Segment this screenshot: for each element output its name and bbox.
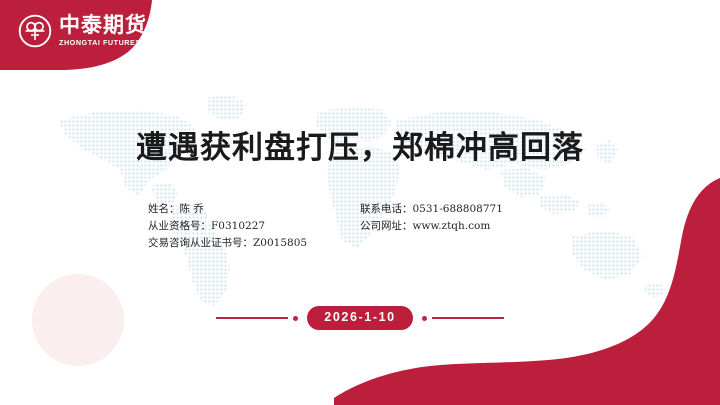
- contact-row-name: 姓名：陈 乔: [148, 201, 360, 218]
- value-website[interactable]: www.ztqh.com: [413, 220, 491, 232]
- contact-row-certificate: 交易咨询从业证书号：Z0015805: [148, 235, 360, 252]
- date-band: 2026-1-10: [0, 305, 720, 331]
- contact-info: 姓名：陈 乔 从业资格号：F0310227 交易咨询从业证书号：Z0015805…: [148, 201, 590, 252]
- brand-logo: 中泰期货 ZHONGTAI FUTURES: [18, 14, 147, 48]
- value-phone: 0531-688808771: [413, 203, 503, 215]
- page-title: 遭遇获利盘打压，郑棉冲高回落: [0, 122, 720, 167]
- label-certificate: 交易咨询从业证书号：: [148, 237, 253, 249]
- band-dot-left: [293, 316, 298, 321]
- label-website: 公司网址：: [360, 220, 413, 232]
- logo-english-name: ZHONGTAI FUTURES: [59, 39, 147, 46]
- label-phone: 联系电话：: [360, 203, 413, 215]
- logo-chinese-name: 中泰期货: [59, 15, 147, 36]
- band-dot-right: [422, 316, 427, 321]
- band-line-right: [432, 317, 504, 318]
- contact-column-right: 联系电话：0531-688808771 公司网址：www.ztqh.com: [360, 201, 590, 252]
- circle-monogram-icon: [18, 14, 52, 48]
- contact-row-qualification: 从业资格号：F0310227: [148, 218, 360, 235]
- contact-row-website: 公司网址：www.ztqh.com: [360, 218, 590, 235]
- label-qualification: 从业资格号：: [148, 220, 211, 232]
- value-name: 陈 乔: [180, 203, 204, 215]
- value-qualification: F0310227: [211, 220, 265, 232]
- band-line-left: [216, 317, 288, 318]
- report-cover-slide: 中泰期货 ZHONGTAI FUTURES 遭遇获利盘打压，郑棉冲高回落 姓名：…: [0, 0, 720, 405]
- contact-row-phone: 联系电话：0531-688808771: [360, 201, 590, 218]
- date-badge: 2026-1-10: [307, 306, 412, 330]
- label-name: 姓名：: [148, 203, 180, 215]
- contact-column-left: 姓名：陈 乔 从业资格号：F0310227 交易咨询从业证书号：Z0015805: [148, 201, 360, 252]
- value-certificate: Z0015805: [253, 237, 307, 249]
